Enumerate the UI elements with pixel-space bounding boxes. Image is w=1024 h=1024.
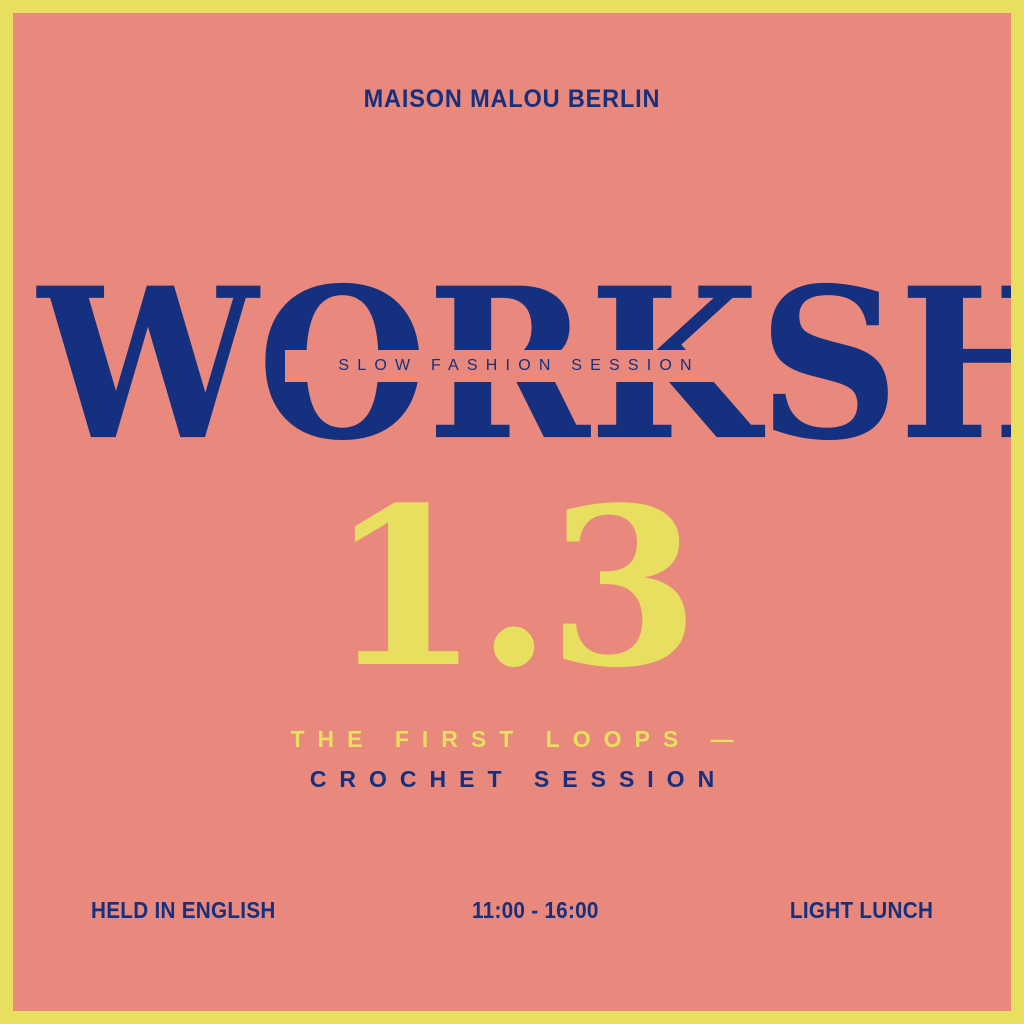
poster-canvas: MAISON MALOU BERLIN WORKSHOP SLOW FASHIO… bbox=[13, 13, 1011, 1011]
footer-details: HELD IN ENGLISH 11:00 - 16:00 LIGHT LUNC… bbox=[91, 893, 933, 927]
subtitle-line-2: CROCHET SESSION bbox=[13, 766, 1011, 793]
headline-band-label: SLOW FASHION SESSION bbox=[330, 357, 700, 375]
subtitle-line-1: THE FIRST LOOPS — bbox=[13, 726, 1011, 753]
brand-name: MAISON MALOU BERLIN bbox=[43, 85, 981, 114]
headline-knockout-band: SLOW FASHION SESSION bbox=[285, 350, 745, 382]
footer-catering: LIGHT LUNCH bbox=[790, 897, 933, 924]
headline-wordmark-group: WORKSHOP SLOW FASHION SESSION bbox=[38, 280, 998, 450]
edition-number: 1.3 bbox=[13, 483, 1011, 693]
footer-language: HELD IN ENGLISH bbox=[91, 897, 276, 924]
workshop-poster: MAISON MALOU BERLIN WORKSHOP SLOW FASHIO… bbox=[0, 0, 1024, 1024]
footer-time: 11:00 - 16:00 bbox=[472, 897, 599, 924]
